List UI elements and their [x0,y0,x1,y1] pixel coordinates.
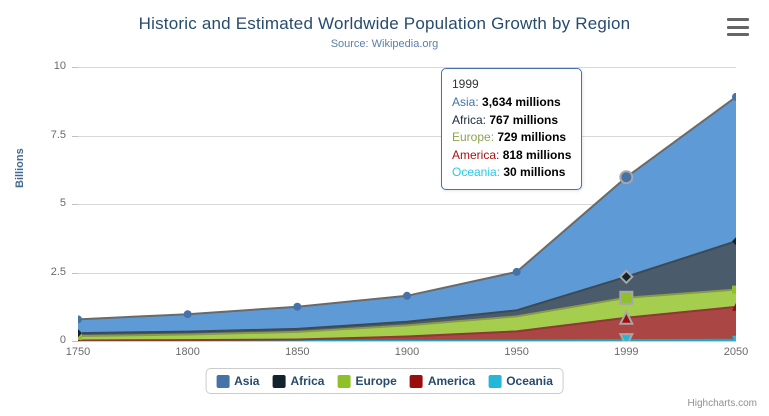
legend-item-europe[interactable]: Europe [337,374,396,388]
x-axis-line [78,341,736,342]
tooltip-row: Oceania: 30 millions [452,164,571,181]
tooltip-series-value: 767 millions [489,113,558,127]
tooltip-series-name: Oceania: [452,165,503,179]
hamburger-menu-icon[interactable] [727,18,749,36]
tooltip-series-name: Europe: [452,130,497,144]
tooltip-series-name: America: [452,148,503,162]
data-point-marker[interactable] [513,268,521,276]
chart-subtitle: Source: Wikipedia.org [0,38,769,50]
data-point-marker[interactable] [293,303,301,311]
legend-items: AsiaAfricaEuropeAmericaOceania [216,374,553,388]
legend-item-america[interactable]: America [410,374,475,388]
tooltip-series-value: 30 millions [503,165,565,179]
tooltip-series-value: 818 millions [503,148,572,162]
menu-bar-3 [727,33,749,36]
legend-item-label: Oceania [506,374,553,388]
x-axis-tick-label: 1850 [267,346,327,358]
data-point-marker[interactable] [732,286,736,294]
legend-item-label: Europe [355,374,396,388]
x-axis-tick-label: 1999 [596,346,656,358]
data-point-marker[interactable] [403,292,411,300]
legend-item-label: Africa [290,374,324,388]
data-point-marker[interactable] [620,171,632,183]
legend-color-swatch [410,375,423,388]
chart-legend[interactable]: AsiaAfricaEuropeAmericaOceania [205,368,564,394]
legend-color-swatch [488,375,501,388]
highcharts-container: Historic and Estimated Worldwide Populat… [0,0,769,416]
x-axis-tick-label: 1900 [377,346,437,358]
y-axis-tick-label: 2.5 [8,266,66,278]
y-axis-title: Billions [14,148,26,188]
x-axis-tick-label: 1800 [158,346,218,358]
chart-title: Historic and Estimated Worldwide Populat… [0,14,769,34]
data-point-marker[interactable] [620,292,632,304]
tooltip-row: Asia: 3,634 millions [452,94,571,111]
tooltip-row: Africa: 767 millions [452,112,571,129]
legend-item-label: Asia [234,374,259,388]
x-axis-tick-label: 1750 [48,346,108,358]
legend-color-swatch [272,375,285,388]
tooltip: 1999 Asia: 3,634 millionsAfrica: 767 mil… [441,68,582,190]
tooltip-series-value: 729 millions [497,130,566,144]
tooltip-series-name: Africa: [452,113,489,127]
y-axis-tick-label: 10 [8,60,66,72]
legend-color-swatch [337,375,350,388]
data-point-marker[interactable] [184,310,192,318]
tooltip-series-name: Asia: [452,95,482,109]
tooltip-row: America: 818 millions [452,147,571,164]
tooltip-header: 1999 [452,76,571,93]
plot-area [78,67,736,341]
legend-item-oceania[interactable]: Oceania [488,374,553,388]
legend-item-africa[interactable]: Africa [272,374,324,388]
y-axis-tick-label: 0 [8,334,66,346]
tooltip-rows: Asia: 3,634 millionsAfrica: 767 millions… [452,94,571,181]
series-plot [78,67,736,341]
tooltip-series-value: 3,634 millions [482,95,561,109]
x-axis-tick-label: 2050 [706,346,766,358]
y-axis-tick-label: 5 [8,197,66,209]
credits-label[interactable]: Highcharts.com [688,398,757,409]
y-axis-tick-label: 7.5 [8,129,66,141]
legend-item-asia[interactable]: Asia [216,374,259,388]
data-point-marker[interactable] [620,334,632,341]
tooltip-row: Europe: 729 millions [452,129,571,146]
menu-bar-1 [727,18,749,21]
legend-item-label: America [428,374,475,388]
menu-bar-2 [727,26,749,29]
legend-color-swatch [216,375,229,388]
x-axis-tick-label: 1950 [487,346,547,358]
